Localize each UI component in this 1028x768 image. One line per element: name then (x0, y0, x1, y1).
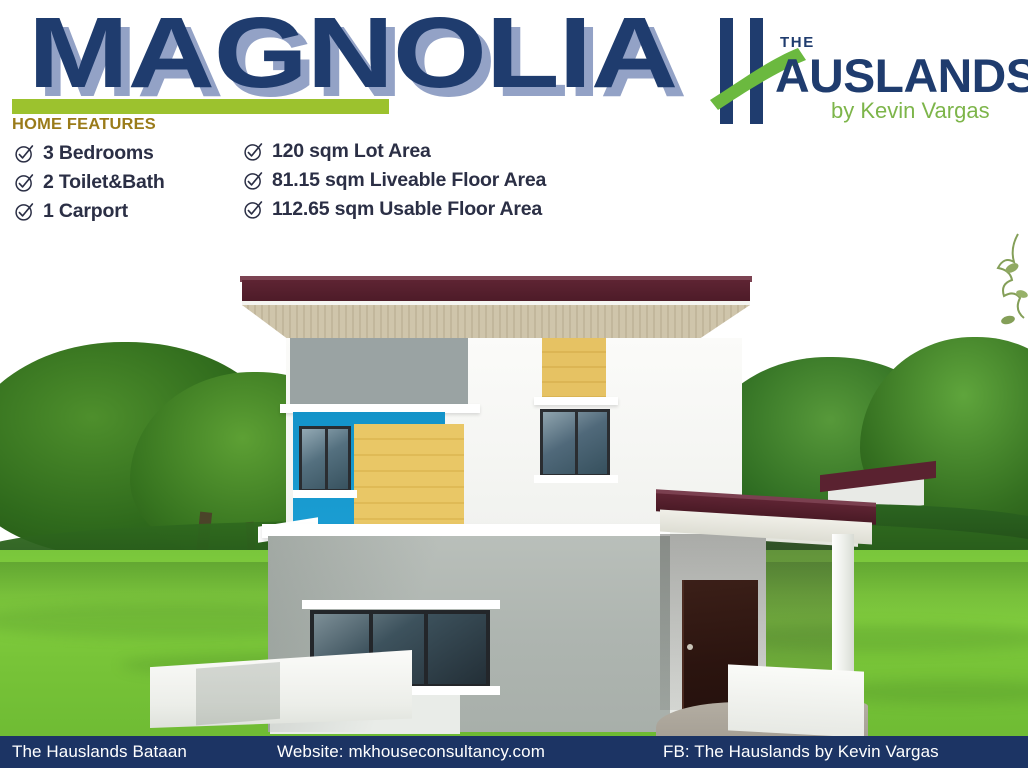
check-circle-icon (243, 141, 264, 162)
check-circle-icon (14, 201, 35, 222)
brand-logo: THE AUSLANDS by Kevin Vargas (706, 12, 1018, 124)
header: MAGNOLIA MAGNOLIA HOME FEATURES THE AUSL… (0, 0, 1028, 132)
upper-wall-gray-panel (290, 338, 468, 410)
feature-label: 1 Carport (43, 200, 128, 223)
feature-item: 112.65 sqm Usable Floor Area (243, 196, 546, 223)
section-label-home-features: HOME FEATURES (12, 116, 156, 134)
features-column-right: 120 sqm Lot Area 81.15 sqm Liveable Floo… (243, 138, 546, 225)
feature-item: 1 Carport (14, 198, 181, 225)
carport-low-wall (728, 664, 864, 737)
upper-left-window (299, 426, 351, 492)
window-ledge (534, 397, 618, 405)
footer-facebook[interactable]: FB: The Hauslands by Kevin Vargas (663, 742, 939, 762)
feature-item: 2 Toilet&Bath (14, 169, 181, 196)
page-title: MAGNOLIA MAGNOLIA (28, 2, 688, 104)
logo-name-text: AUSLANDS (775, 48, 1028, 103)
upper-yellow-siding-panel (354, 424, 464, 538)
roof-fascia (242, 280, 750, 302)
flyer-canvas: MAGNOLIA MAGNOLIA HOME FEATURES THE AUSL… (0, 0, 1028, 768)
feature-label: 3 Bedrooms (43, 142, 154, 165)
accent-bar (12, 99, 389, 114)
upper-yellow-accent-panel (542, 338, 606, 400)
feature-label: 112.65 sqm Usable Floor Area (272, 198, 542, 221)
footer-location: The Hauslands Bataan (12, 742, 187, 762)
feature-item: 3 Bedrooms (14, 140, 181, 167)
check-circle-icon (243, 199, 264, 220)
page-title-text: MAGNOLIA (28, 2, 677, 104)
footer-website[interactable]: Website: mkhouseconsultancy.com (277, 742, 545, 762)
feature-label: 2 Toilet&Bath (43, 171, 165, 194)
house-photo (0, 232, 1028, 742)
door-knob-icon (687, 644, 693, 650)
logo-byline-text: by Kevin Vargas (831, 98, 990, 124)
window-header (302, 600, 500, 609)
feature-item: 81.15 sqm Liveable Floor Area (243, 167, 546, 194)
feature-label: 120 sqm Lot Area (272, 140, 431, 163)
window-sill (534, 475, 618, 483)
upper-right-window (540, 409, 610, 477)
check-circle-icon (14, 143, 35, 164)
boundary-wall-shadow (196, 662, 280, 728)
roof-soffit (242, 305, 750, 339)
window-sill (293, 490, 357, 498)
footer-bar: The Hauslands Bataan Website: mkhousecon… (0, 736, 1028, 768)
check-circle-icon (14, 172, 35, 193)
feature-item: 120 sqm Lot Area (243, 138, 546, 165)
feature-label: 81.15 sqm Liveable Floor Area (272, 169, 546, 192)
check-circle-icon (243, 170, 264, 191)
